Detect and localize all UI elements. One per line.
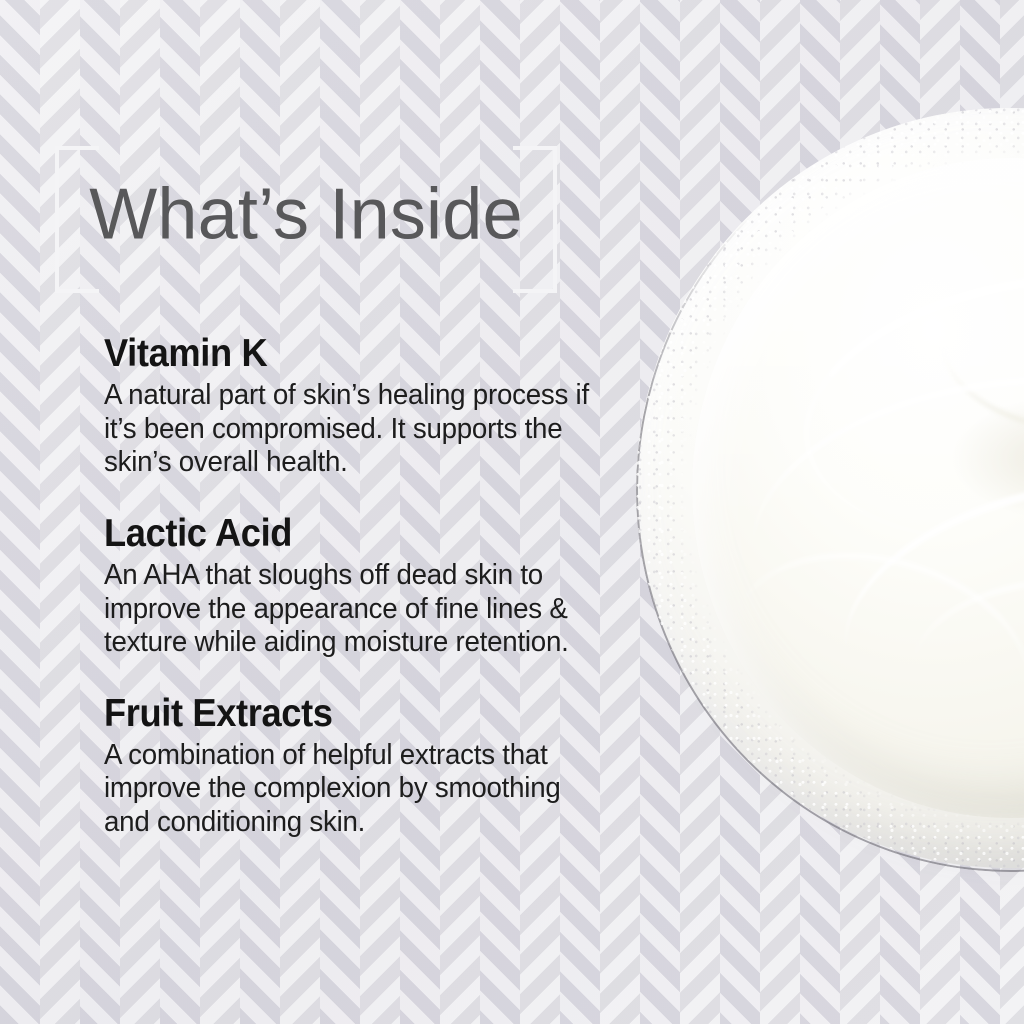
- infographic-canvas: What’s Inside Vitamin K A natural part o…: [0, 0, 1024, 1024]
- ingredient-description: A combination of helpful extracts that i…: [104, 739, 601, 840]
- ingredient-item-vitamin-k: Vitamin K A natural part of skin’s heali…: [104, 334, 624, 480]
- ingredient-list: Vitamin K A natural part of skin’s heali…: [104, 334, 624, 840]
- ingredient-item-lactic-acid: Lactic Acid An AHA that sloughs off dead…: [104, 514, 624, 660]
- ingredient-name: Lactic Acid: [104, 514, 588, 553]
- ingredient-name: Vitamin K: [104, 334, 588, 373]
- ingredient-item-fruit-extracts: Fruit Extracts A combination of helpful …: [104, 694, 624, 840]
- page-title-block: What’s Inside: [55, 146, 557, 285]
- ingredient-name: Fruit Extracts: [104, 694, 588, 733]
- ingredient-description: An AHA that sloughs off dead skin to imp…: [104, 559, 601, 660]
- page-title: What’s Inside: [55, 178, 557, 250]
- ingredient-description: A natural part of skin’s healing process…: [104, 379, 601, 480]
